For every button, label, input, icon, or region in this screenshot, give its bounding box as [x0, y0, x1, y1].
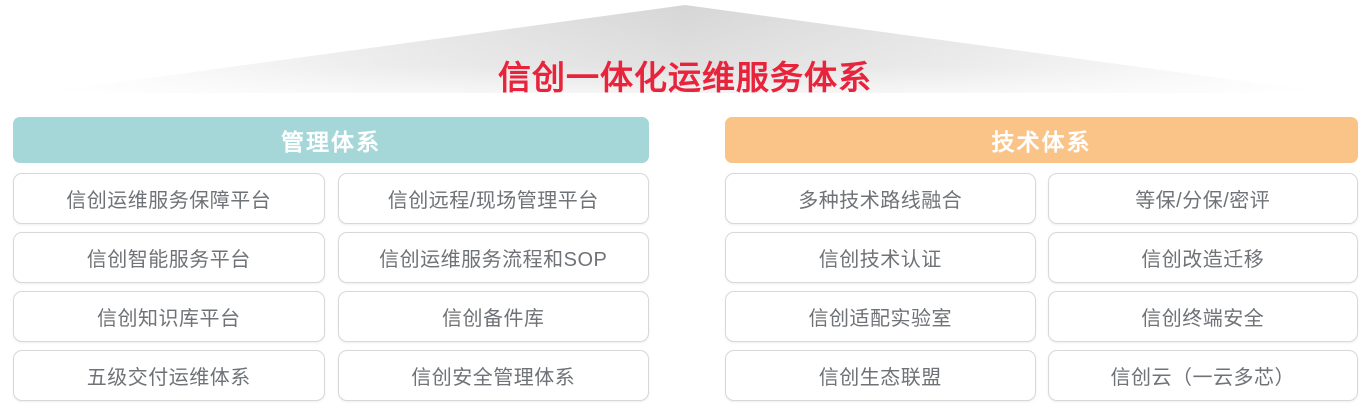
- card-item[interactable]: 信创知识库平台: [13, 291, 325, 342]
- panel-management: 管理体系 信创运维服务保障平台 信创远程/现场管理平台 信创智能服务平台 信创运…: [13, 117, 649, 401]
- card-item[interactable]: 信创改造迁移: [1048, 232, 1359, 283]
- card-item[interactable]: 多种技术路线融合: [725, 173, 1036, 224]
- card-item[interactable]: 信创运维服务保障平台: [13, 173, 325, 224]
- card-item[interactable]: 信创适配实验室: [725, 291, 1036, 342]
- card-item[interactable]: 信创安全管理体系: [338, 350, 650, 401]
- card-item[interactable]: 信创智能服务平台: [13, 232, 325, 283]
- panel-header-technology: 技术体系: [725, 117, 1358, 163]
- card-item[interactable]: 信创生态联盟: [725, 350, 1036, 401]
- card-item[interactable]: 五级交付运维体系: [13, 350, 325, 401]
- card-grid-technology: 多种技术路线融合 等保/分保/密评 信创技术认证 信创改造迁移 信创适配实验室 …: [725, 173, 1358, 401]
- card-item[interactable]: 信创云（一云多芯）: [1048, 350, 1359, 401]
- page-title: 信创一体化运维服务体系: [0, 58, 1370, 98]
- card-item[interactable]: 信创备件库: [338, 291, 650, 342]
- panel-technology: 技术体系 多种技术路线融合 等保/分保/密评 信创技术认证 信创改造迁移 信创适…: [725, 117, 1358, 401]
- card-item[interactable]: 信创技术认证: [725, 232, 1036, 283]
- diagram-canvas: 信创一体化运维服务体系 管理体系 信创运维服务保障平台 信创远程/现场管理平台 …: [0, 0, 1370, 418]
- card-item[interactable]: 等保/分保/密评: [1048, 173, 1359, 224]
- card-grid-management: 信创运维服务保障平台 信创远程/现场管理平台 信创智能服务平台 信创运维服务流程…: [13, 173, 649, 401]
- panel-header-management: 管理体系: [13, 117, 649, 163]
- card-item[interactable]: 信创远程/现场管理平台: [338, 173, 650, 224]
- card-item[interactable]: 信创终端安全: [1048, 291, 1359, 342]
- card-item[interactable]: 信创运维服务流程和SOP: [338, 232, 650, 283]
